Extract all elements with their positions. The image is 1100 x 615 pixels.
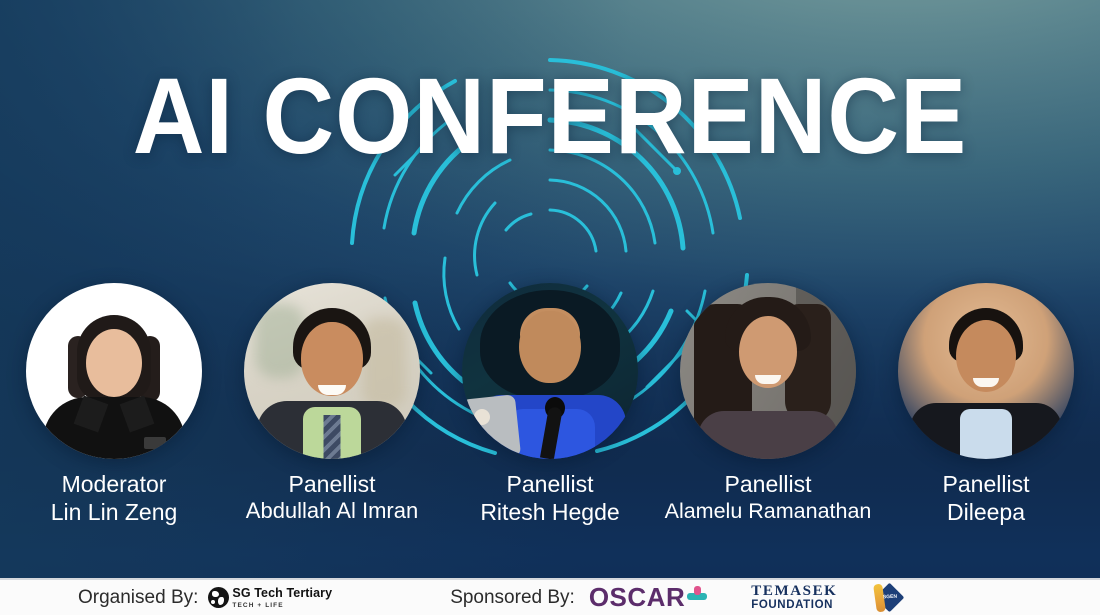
organised-by-label: Organised By: <box>78 587 198 609</box>
avatar <box>244 283 420 459</box>
speaker-card-2 <box>450 283 650 459</box>
oscar-wordmark: OSCAR <box>589 582 685 613</box>
organiser-name: SG Tech Tertiary <box>232 586 332 600</box>
avatar <box>26 283 202 459</box>
organiser-tagline: TECH + LIFE <box>232 603 332 610</box>
portrait-photo-dileepa <box>898 283 1074 459</box>
speaker-name: Alamelu Ramanathan <box>660 498 876 524</box>
speaker-card-3 <box>668 283 868 459</box>
page-title: AI CONFERENCE <box>44 62 1056 170</box>
speaker-name: Dileepa <box>878 498 1094 526</box>
sgen-logo: SGEN <box>871 584 925 612</box>
speaker-label-0: Moderator Lin Lin Zeng <box>6 470 222 526</box>
sponsored-by-label: Sponsored By: <box>450 587 575 609</box>
portrait-photo-abdullah-al-imran <box>244 283 420 459</box>
portrait-photo-ritesh-hegde <box>462 283 638 459</box>
speaker-label-row: Moderator Lin Lin Zeng Panellist Abdulla… <box>0 470 1100 526</box>
portrait-photo-alamelu-ramanathan <box>680 283 856 459</box>
speaker-label-3: Panellist Alamelu Ramanathan <box>660 470 876 526</box>
speaker-label-4: Panellist Dileepa <box>878 470 1094 526</box>
avatar <box>462 283 638 459</box>
speaker-role: Panellist <box>878 470 1094 498</box>
conference-poster: AI CONFERENCE <box>0 0 1100 615</box>
speaker-name: Lin Lin Zeng <box>6 498 222 526</box>
speaker-role: Moderator <box>6 470 222 498</box>
avatar <box>898 283 1074 459</box>
temasek-foundation-logo: TEMASEK FOUNDATION <box>751 584 837 612</box>
speaker-name: Ritesh Hegde <box>442 498 658 526</box>
speaker-role: Panellist <box>442 470 658 498</box>
footer-bar: Organised By: SG Tech Tertiary TECH + LI… <box>0 578 1100 615</box>
speaker-label-1: Panellist Abdullah Al Imran <box>224 470 440 526</box>
sg-tech-tertiary-logo: SG Tech Tertiary TECH + LIFE <box>208 585 332 610</box>
temasek-line-1: TEMASEK <box>751 584 837 600</box>
avatar <box>680 283 856 459</box>
speaker-label-2: Panellist Ritesh Hegde <box>442 470 658 526</box>
speaker-card-0 <box>14 283 214 459</box>
speaker-portrait-row <box>0 283 1100 463</box>
globe-icon <box>208 587 229 608</box>
portrait-photo-lin-lin-zeng <box>26 283 202 459</box>
oscar-logo: OSCAR <box>589 582 707 613</box>
sponsor-group: Sponsored By: OSCAR TEMASEK FOUNDATION S… <box>450 582 925 613</box>
speaker-card-4 <box>886 283 1086 459</box>
cross-icon <box>687 586 707 606</box>
speaker-card-1 <box>232 283 432 459</box>
organiser-group: Organised By: SG Tech Tertiary TECH + LI… <box>78 585 332 610</box>
speaker-role: Panellist <box>224 470 440 498</box>
speaker-name: Abdullah Al Imran <box>224 498 440 525</box>
sgen-wordmark: SGEN <box>880 593 900 600</box>
temasek-line-2: FOUNDATION <box>751 599 837 611</box>
speaker-role: Panellist <box>660 470 876 498</box>
